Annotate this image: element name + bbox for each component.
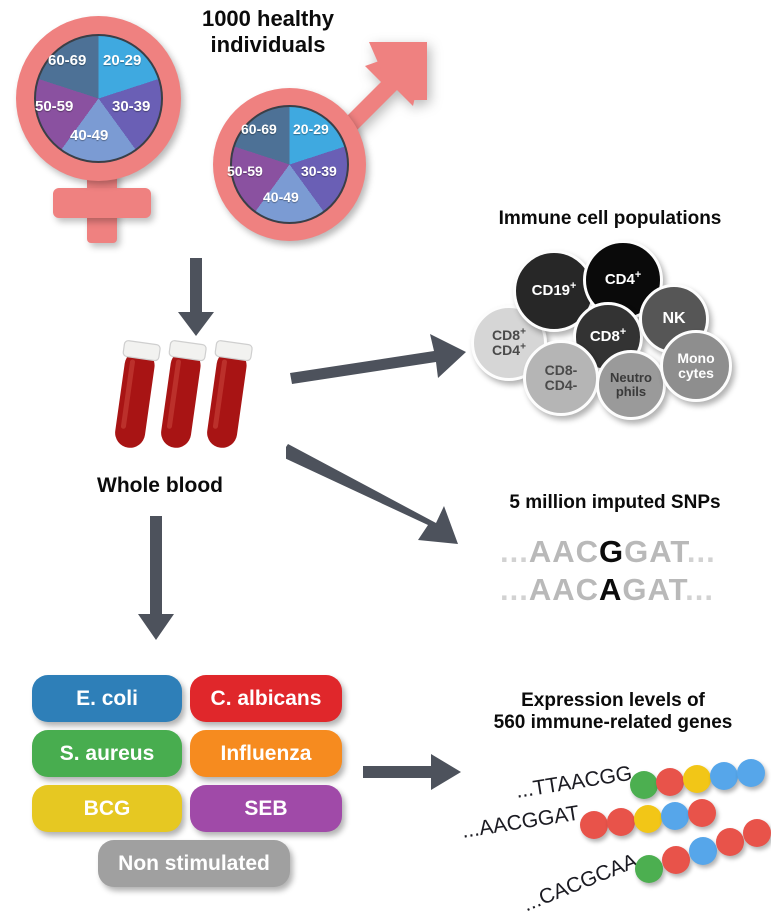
stimulus-e-coli[interactable]: E. coli (32, 675, 182, 722)
snp-allele-2-dots-right: ... (685, 572, 714, 607)
female-pie-label-30-39: 30-39 (112, 98, 150, 115)
male-pie-label-60-69: 60-69 (241, 121, 277, 137)
rna-strand-2-sequence: ...AACGGAT (460, 802, 581, 844)
rna-strand-2-bead-4 (661, 802, 689, 830)
cell-cd19-label: CD19+ (532, 283, 577, 299)
rna-strand-3-bead-3 (689, 837, 717, 865)
blood-tubes (100, 338, 260, 458)
expression-title-line1: Expression levels of (458, 690, 768, 712)
immune-title: Immune cell populations (455, 208, 765, 230)
snp-allele-1-dots-left: ... (500, 534, 529, 569)
male-pie-label-30-39: 30-39 (301, 163, 337, 179)
snp-allele-2-bases-right: GAT (622, 572, 685, 607)
stimulus-bcg[interactable]: BCG (32, 785, 182, 832)
snp-allele-2-dots-left: ... (500, 572, 529, 607)
cell-neutrophils: Neutrophils (596, 350, 666, 420)
rna-strand-2-bead-5 (688, 799, 716, 827)
rna-strand-1-bead-5 (737, 759, 765, 787)
rna-strand-1-bead-3 (683, 765, 711, 793)
expression-title: Expression levels of 560 immune-related … (458, 690, 768, 735)
rna-strand-3-bead-5 (743, 819, 771, 847)
rna-strand-2-bead-3 (634, 805, 662, 833)
snp-allele-1-bases-left: AAC (529, 534, 599, 569)
rna-strand-3-bead-2 (662, 846, 690, 874)
female-pie-label-60-69: 60-69 (48, 52, 86, 69)
stimulus-c-albicans[interactable]: C. albicans (190, 675, 342, 722)
arrow-blood-to-snps (286, 440, 466, 550)
rna-strand-3-bead-4 (716, 828, 744, 856)
rna-strand-1-bead-2 (656, 768, 684, 796)
blood-tube-3 (202, 340, 252, 450)
rna-strand-2-bead-2 (607, 808, 635, 836)
rna-strand-2-bead-1 (580, 811, 608, 839)
snp-allele-2-variant: A (599, 572, 622, 607)
rna-strand-1-bead-4 (710, 762, 738, 790)
cell-cd8-label: CD8+ (590, 329, 626, 345)
figure-canvas: 1000 healthy individuals 20-29 30-39 40-… (0, 0, 771, 922)
snp-allele-1-dots-right: ... (687, 534, 716, 569)
female-pie-label-20-29: 20-29 (103, 52, 141, 69)
female-pie-label-50-59: 50-59 (35, 98, 73, 115)
stimulus-s-aureus[interactable]: S. aureus (32, 730, 182, 777)
blood-tube-1 (110, 340, 160, 450)
immune-cell-cluster: CD8+CD4+ CD19+ CD4+ CD8+ NK CD8-CD4- Neu… (465, 240, 765, 420)
snp-allele-2-bases-left: AAC (529, 572, 599, 607)
cell-cd8p-cd4p-label: CD8+CD4+ (492, 328, 526, 357)
arrow-blood-to-stimuli (134, 516, 178, 642)
snp-allele-1-variant: G (599, 534, 624, 569)
snp-allele-1: ......AACAACGGAT... (500, 534, 716, 570)
cell-monocytes: Monocytes (660, 330, 732, 402)
male-symbol: 20-29 30-39 40-49 50-59 60-69 (205, 30, 435, 240)
cell-nk-label: NK (662, 311, 685, 328)
rna-strand-3-bead-1 (635, 855, 663, 883)
female-symbol-crossbar (53, 188, 151, 218)
snp-allele-2: ...AACAGAT... (500, 572, 714, 608)
arrow-blood-to-immune (288, 326, 468, 386)
cell-cd4-label: CD4+ (605, 272, 641, 288)
cell-monocytes-label: Monocytes (677, 351, 714, 380)
arrow-cohort-to-blood (176, 258, 216, 338)
rna-strand-3-sequence: ...CACGCAA (520, 849, 642, 917)
stimulus-influenza[interactable]: Influenza (190, 730, 342, 777)
stimuli-panel: E. coli C. albicans S. aureus Influenza … (30, 675, 350, 895)
stimulus-non-stimulated[interactable]: Non stimulated (98, 840, 290, 887)
female-symbol: 20-29 30-39 40-49 50-59 60-69 (8, 8, 213, 253)
cell-cd8n-cd4n-label: CD8-CD4- (545, 363, 578, 392)
rna-strand-1-sequence: ...TTAACGG (514, 762, 634, 804)
expression-strands: ...TTAACGG ...AACGGAT ...CACGCAA (440, 742, 771, 917)
cell-cd8n-cd4n: CD8-CD4- (523, 340, 599, 416)
stimulus-seb[interactable]: SEB (190, 785, 342, 832)
rna-strand-1-bead-1 (630, 771, 658, 799)
blood-tube-2 (156, 340, 206, 450)
expression-title-line2: 560 immune-related genes (458, 712, 768, 734)
male-pie-label-50-59: 50-59 (227, 163, 263, 179)
snps-title: 5 million imputed SNPs (470, 492, 760, 514)
cell-neutrophils-label: Neutrophils (610, 371, 652, 398)
female-pie-label-40-49: 40-49 (70, 127, 108, 144)
male-pie-label-40-49: 40-49 (263, 189, 299, 205)
snp-allele-1-bases-right: GAT (624, 534, 687, 569)
whole-blood-label: Whole blood (70, 474, 250, 499)
male-pie-label-20-29: 20-29 (293, 121, 329, 137)
